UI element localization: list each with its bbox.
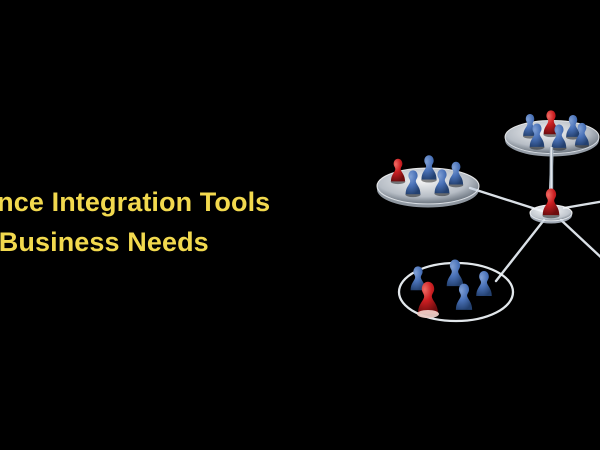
- link-hub-to-bottom-right: [561, 220, 600, 275]
- pawn-member: [476, 271, 492, 299]
- leader-base-highlight: [417, 310, 439, 318]
- headline-line-1: ounce Integration Tools: [0, 182, 384, 222]
- headline: ounce Integration Tools ur Business Need…: [0, 182, 384, 262]
- network-teamwork-illustration: [370, 85, 600, 355]
- central-hub: [530, 188, 572, 223]
- promo-banner: ounce Integration Tools ur Business Need…: [0, 0, 600, 450]
- cluster-left: [377, 155, 479, 207]
- pawn-leader: [542, 188, 559, 218]
- link-hub-to-bottom: [496, 220, 544, 281]
- link-hub-to-left: [470, 188, 542, 211]
- headline-line-2: ur Business Needs: [0, 222, 384, 262]
- link-hub-to-right: [564, 198, 600, 208]
- cluster-bottom: [399, 259, 513, 321]
